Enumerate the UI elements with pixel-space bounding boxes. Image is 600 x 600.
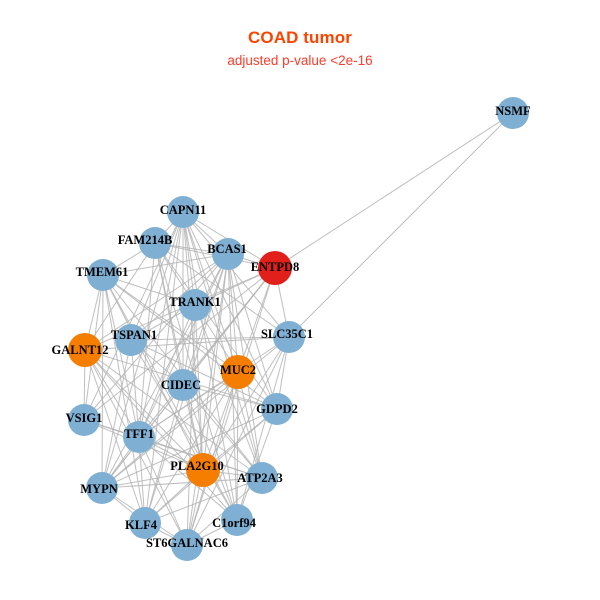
node-label-pla2g10: PLA2G10 xyxy=(170,459,223,473)
edge xyxy=(102,275,103,488)
node-label-cidec: CIDEC xyxy=(161,378,201,392)
node-label-slc35c1: SLC35C1 xyxy=(261,327,313,341)
node-label-atp2a3: ATP2A3 xyxy=(237,471,283,485)
node-label-tspan1: TSPAN1 xyxy=(111,328,157,342)
node-label-trank1: TRANK1 xyxy=(169,295,220,309)
node-label-gdpd2: GDPD2 xyxy=(256,402,298,416)
node-label-muc2: MUC2 xyxy=(220,363,256,377)
node-label-entpd8: ENTPD8 xyxy=(251,260,300,274)
node-label-galnt12: GALNT12 xyxy=(52,343,109,357)
node-label-fam214b: FAM214B xyxy=(118,233,173,247)
node-label-bcas1: BCAS1 xyxy=(207,242,247,256)
node-label-tff1: TFF1 xyxy=(124,427,154,441)
node-label-klf4: KLF4 xyxy=(125,518,158,532)
node-label-st6galnac6: ST6GALNAC6 xyxy=(146,536,228,550)
node-label-mypn: MYPN xyxy=(80,482,118,496)
network-graph: NSMFCAPN11FAM214BBCAS1TMEM61ENTPD8TRANK1… xyxy=(0,0,600,600)
edge xyxy=(275,113,513,268)
node-label-vsig1: VSIG1 xyxy=(66,411,103,425)
network-plot-canvas: NSMFCAPN11FAM214BBCAS1TMEM61ENTPD8TRANK1… xyxy=(0,0,600,600)
node-label-nsmf: NSMF xyxy=(495,104,531,118)
node-label-tmem61: TMEM61 xyxy=(76,265,129,279)
node-label-capn11: CAPN11 xyxy=(160,203,207,217)
node-label-c1orf94: C1orf94 xyxy=(212,516,256,530)
edge xyxy=(289,113,513,337)
